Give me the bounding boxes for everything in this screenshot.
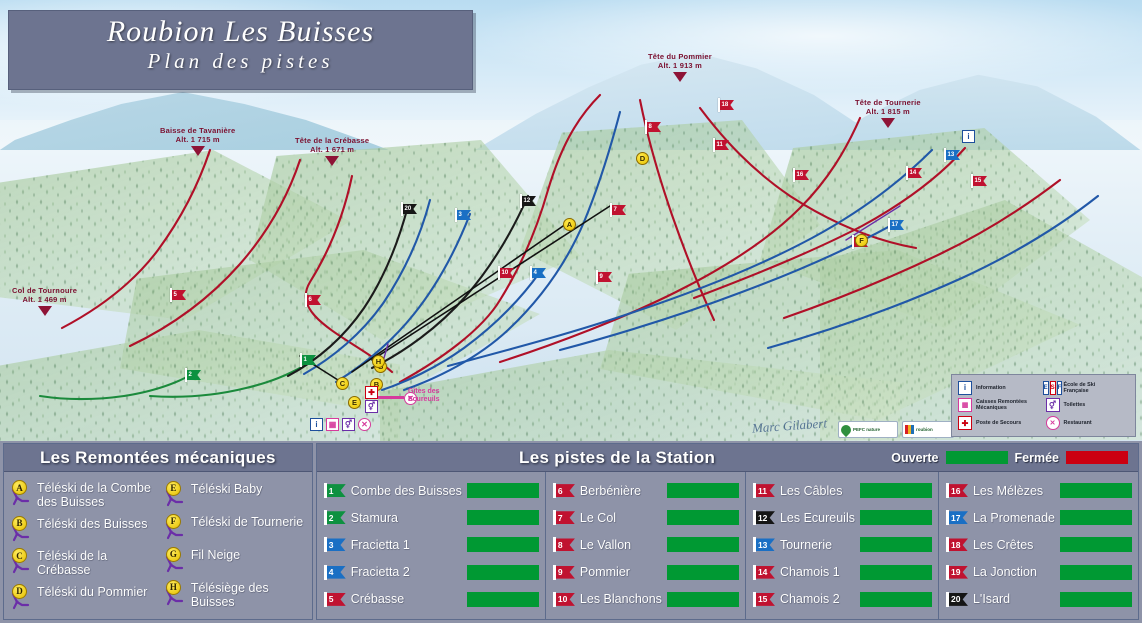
lift-badge-icon: A: [10, 480, 32, 506]
flag-pennant: 11: [715, 140, 729, 150]
flag-pole: [553, 510, 556, 525]
flag-pole: [753, 537, 756, 552]
legend-area: Les Remontées mécaniques ATéléski de la …: [0, 441, 1142, 623]
lift-badge-letter: A: [12, 480, 27, 495]
piste-difficulty-flag: 17: [946, 510, 968, 525]
piste-name: Pommier: [580, 565, 662, 579]
flag-pennant: 7: [612, 205, 626, 215]
flag-pole: [946, 565, 949, 580]
flag-pole: [610, 203, 612, 217]
piste-name: Chamois 1: [780, 565, 855, 579]
flag-pennant: 3: [457, 210, 471, 220]
restaurant-icon[interactable]: ✕: [358, 418, 371, 431]
flag-pennant: 6: [307, 295, 321, 305]
lift-name: Téléski Baby: [191, 481, 263, 496]
piste-name: Les Mélèzes: [973, 484, 1055, 498]
piste-difficulty-flag: 14: [753, 565, 775, 580]
piste-difficulty-flag: 16: [946, 483, 968, 498]
status-open-label: Ouverte: [891, 451, 938, 465]
piste-name: Stamura: [351, 511, 462, 525]
service-information[interactable]: i Information: [958, 380, 1042, 396]
piste-difficulty-flag: 20: [946, 592, 968, 607]
status-open-swatch: [946, 451, 1008, 464]
piste-difficulty-flag: 1: [324, 483, 346, 498]
flag-pennant: 9: [598, 272, 612, 282]
lifts-panel-header: Les Remontées mécaniques: [4, 444, 312, 472]
lift-name: Fil Neige: [191, 547, 240, 562]
status-closed-label: Fermée: [1015, 451, 1059, 465]
piste-name: Combe des Buisses: [351, 484, 462, 498]
map-title-banner: Roubion Les Buisses Plan des pistes: [8, 10, 473, 90]
leaf-icon: [839, 422, 853, 436]
piste-row[interactable]: 2Stamura: [324, 505, 539, 531]
flag-pennant: 18: [720, 100, 734, 110]
map-piste-flag-14[interactable]: 14: [906, 168, 922, 180]
sponsor-logo-pefc: PEFC nature: [838, 421, 898, 438]
restaurant-icon: ✕: [1046, 416, 1060, 430]
flag-pole: [645, 120, 647, 134]
map-piste-flag-18[interactable]: 18: [718, 100, 734, 112]
piste-number: 11: [756, 484, 775, 497]
map-lift-badge-C[interactable]: C: [336, 377, 349, 390]
pistes-column-2: 6Berbénière7Le Col8Le Vallon9Pommier10Le…: [546, 472, 746, 619]
lift-badge-icon: E: [164, 481, 186, 507]
flag-pole: [324, 592, 327, 607]
flag-pennant: 15: [973, 176, 987, 186]
flag-pennant: 1: [302, 355, 316, 365]
information-icon: i: [958, 381, 972, 395]
flag-pole: [596, 270, 598, 284]
pistes-column-1: 1Combe des Buisses2Stamura3Fracietta 14F…: [317, 472, 546, 619]
pistes-column-3: 11Les Câbles12Les Ecureuils13Tournerie14…: [746, 472, 939, 619]
piste-status-bar: [667, 592, 739, 607]
flag-pole: [324, 537, 327, 552]
information-icon[interactable]: i: [310, 418, 323, 431]
piste-difficulty-flag: 18: [946, 537, 968, 552]
flag-pennant: 2: [187, 370, 201, 380]
ticket-office-icon: ▦: [958, 398, 972, 412]
lift-item-f[interactable]: FTéléski de Tournerie: [164, 514, 308, 540]
piste-difficulty-flag: 11: [753, 483, 775, 498]
map-lift-badge-F[interactable]: F: [855, 234, 868, 247]
map-piste-flag-4[interactable]: 4: [530, 268, 546, 280]
service-label: Information: [976, 385, 1006, 391]
piste-name: Les Câbles: [780, 484, 855, 498]
flag-pole: [888, 218, 890, 232]
piste-row[interactable]: 9Pommier: [553, 559, 739, 585]
piste-number: 7: [556, 511, 575, 524]
flag-icon: [905, 425, 914, 434]
page-subtitle: Plan des pistes: [9, 49, 472, 74]
piste-name: Chamois 2: [780, 592, 855, 606]
flag-pole: [753, 510, 756, 525]
toilets-icon: ⚥: [1046, 398, 1060, 412]
status-closed-swatch: [1066, 451, 1128, 464]
summit-label: Tête du Pommier Alt. 1 913 m: [648, 52, 712, 82]
service-toilets[interactable]: ⚥ Toilettes: [1046, 398, 1130, 414]
map-piste-flag-6[interactable]: 6: [305, 295, 321, 307]
piste-difficulty-flag: 5: [324, 592, 346, 607]
flag-pennant: 8: [647, 122, 661, 132]
flag-pole: [852, 235, 854, 249]
piste-status-bar: [1060, 483, 1132, 498]
lift-badge-letter: D: [12, 584, 27, 599]
piste-status-bar: [467, 592, 539, 607]
lifts-panel: Les Remontées mécaniques ATéléski de la …: [3, 443, 313, 620]
map-piste-flag-1[interactable]: 1: [300, 355, 316, 367]
piste-name: Les Blanchons: [580, 592, 662, 606]
summit-pointer-icon: [191, 146, 205, 156]
flag-pole: [753, 565, 756, 580]
piste-row[interactable]: 19La Jonction: [946, 559, 1132, 585]
map-piste-flag-16[interactable]: 16: [793, 170, 809, 182]
piste-status-bar: [860, 565, 932, 580]
map-piste-flag-15[interactable]: 15: [971, 176, 987, 188]
piste-row[interactable]: 18Les Crêtes: [946, 532, 1132, 558]
piste-row[interactable]: 13Tournerie: [753, 532, 932, 558]
flag-pole: [944, 148, 946, 162]
ticket-office-icon[interactable]: ▦: [326, 418, 339, 431]
map-piste-flag-3[interactable]: 3: [455, 210, 471, 222]
flag-pennant: 13: [946, 150, 960, 160]
summit-pointer-icon: [325, 156, 339, 166]
lifts-header-label: Les Remontées mécaniques: [40, 448, 276, 468]
map-lift-badge-H[interactable]: H: [372, 355, 385, 368]
flag-pennant: 10: [500, 268, 514, 278]
piste-row[interactable]: 7Le Col: [553, 505, 739, 531]
summit-label: Tête de la Crébasse Alt. 1 671 m: [295, 136, 369, 166]
piste-status-bar: [860, 510, 932, 525]
summit-label: Col de Tournoure Alt. 1 469 m: [12, 286, 77, 316]
piste-status-bar: [667, 565, 739, 580]
piste-row[interactable]: 3Fracietta 1: [324, 532, 539, 558]
status-legend: Ouverte Fermée: [891, 451, 1128, 465]
flag-pole: [793, 168, 795, 182]
pistes-header-label: Les pistes de la Station: [519, 448, 715, 468]
lift-name: Téléski des Buisses: [37, 516, 147, 531]
flag-pole: [553, 592, 556, 607]
piste-number: 9: [556, 566, 575, 579]
piste-name: Crébasse: [351, 592, 462, 606]
piste-number: 13: [756, 538, 775, 551]
service-ticket-office[interactable]: ▦ Caisses RemontéesMécaniques: [958, 398, 1042, 414]
flag-pole: [324, 483, 327, 498]
map-piste-flag-8[interactable]: 8: [645, 122, 661, 134]
piste-status-bar: [1060, 592, 1132, 607]
flag-pennant: 5: [172, 290, 186, 300]
lift-name: Téléski du Pommier: [37, 584, 147, 599]
map-piste-flag-11[interactable]: 11: [713, 140, 729, 152]
lift-name: Télésiège des Buisses: [191, 580, 308, 610]
sponsor-logo-roubion: roubion: [902, 421, 954, 438]
map-piste-flag-20[interactable]: 20: [401, 204, 417, 216]
lift-badge-letter: B: [12, 516, 27, 531]
pistes-panel-header: Les pistes de la Station Ouverte Fermée: [317, 444, 1138, 472]
lift-item-h[interactable]: HTélésiège des Buisses: [164, 580, 308, 610]
piste-name: Tournerie: [780, 538, 855, 552]
service-label: Toilettes: [1064, 402, 1086, 408]
piste-number: 15: [756, 593, 775, 606]
piste-difficulty-flag: 2: [324, 510, 346, 525]
service-label: Poste de Secours: [976, 420, 1021, 426]
map-lift-badge-D[interactable]: D: [636, 152, 649, 165]
piste-difficulty-flag: 12: [753, 510, 775, 525]
piste-number: 5: [327, 593, 346, 606]
pistes-panel: Les pistes de la Station Ouverte Fermée …: [316, 443, 1139, 620]
first-aid-icon: ✚: [958, 416, 972, 430]
piste-name: Les Crêtes: [973, 538, 1055, 552]
piste-row[interactable]: 20L'Isard: [946, 586, 1132, 612]
lift-badge-letter: E: [166, 481, 181, 496]
piste-map-page: Baisse de Tavanière Alt. 1 715 m Tête de…: [0, 0, 1142, 623]
flag-pole: [553, 483, 556, 498]
piste-status-bar: [1060, 510, 1132, 525]
flag-pole: [946, 592, 949, 607]
piste-number: 4: [327, 566, 346, 579]
piste-row[interactable]: 6Berbénière: [553, 478, 739, 504]
flag-pole: [718, 98, 720, 112]
piste-status-bar: [667, 537, 739, 552]
flag-pole: [498, 266, 500, 280]
lifts-column-left: ATéléski de la Combe des BuissesBTéléski…: [4, 472, 158, 619]
piste-status-bar: [1060, 565, 1132, 580]
piste-name: Le Vallon: [580, 538, 662, 552]
piste-number: 16: [949, 484, 968, 497]
piste-number: 10: [556, 593, 575, 606]
piste-difficulty-flag: 9: [553, 565, 575, 580]
piste-name: Fracietta 2: [351, 565, 462, 579]
piste-status-bar: [667, 510, 739, 525]
flag-pole: [520, 194, 522, 208]
flag-pole: [946, 483, 949, 498]
piste-number: 3: [327, 538, 346, 551]
lift-badge-letter: G: [166, 547, 181, 562]
piste-row[interactable]: 17La Promenade: [946, 505, 1132, 531]
piste-number: 8: [556, 538, 575, 551]
summit-label: Baisse de Tavanière Alt. 1 715 m: [160, 126, 235, 156]
piste-difficulty-flag: 19: [946, 565, 968, 580]
map-lift-badge-E[interactable]: E: [348, 396, 361, 409]
piste-name: Fracietta 1: [351, 538, 462, 552]
first-aid-icon[interactable]: ✚: [365, 386, 378, 399]
lift-item-b[interactable]: BTéléski des Buisses: [10, 516, 154, 542]
piste-name: La Promenade: [973, 511, 1055, 525]
piste-name: La Jonction: [973, 565, 1055, 579]
piste-name: L'Isard: [973, 592, 1055, 606]
piste-number: 12: [756, 511, 775, 524]
lift-name: Téléski de la Combe des Buisses: [37, 480, 154, 510]
lift-item-d[interactable]: DTéléski du Pommier: [10, 584, 154, 610]
service-restaurant[interactable]: ✕ Restaurant: [1046, 415, 1130, 431]
lift-badge-icon: D: [10, 584, 32, 610]
map-piste-flag-13[interactable]: 13: [944, 150, 960, 162]
piste-difficulty-flag: 15: [753, 592, 775, 607]
lift-badge-icon: H: [164, 580, 186, 606]
map-piste-flag-12[interactable]: 12: [520, 196, 536, 208]
pistes-columns: 1Combe des Buisses2Stamura3Fracietta 14F…: [317, 472, 1138, 619]
lift-badge-icon: B: [10, 516, 32, 542]
lift-badge-icon: F: [164, 514, 186, 540]
piste-difficulty-flag: 6: [553, 483, 575, 498]
map-piste-flag-9[interactable]: 9: [596, 272, 612, 284]
flag-pennant: 16: [795, 170, 809, 180]
piste-difficulty-flag: 3: [324, 537, 346, 552]
flag-pole: [305, 293, 307, 307]
flag-pole: [401, 202, 403, 216]
information-icon[interactable]: i: [962, 130, 975, 143]
gites-label: Gîtes desEcureuils: [408, 388, 440, 405]
map-piste-flag-10[interactable]: 10: [498, 268, 514, 280]
piste-row[interactable]: 10Les Blanchons: [553, 586, 739, 612]
piste-number: 1: [327, 484, 346, 497]
lift-name: Téléski de Tournerie: [191, 514, 303, 529]
piste-row[interactable]: 16Les Mélèzes: [946, 478, 1132, 504]
toilets-icon[interactable]: ⚥: [342, 418, 355, 431]
piste-status-bar: [860, 483, 932, 498]
map-piste-flag-5[interactable]: 5: [170, 290, 186, 302]
map-piste-flag-17[interactable]: 17: [888, 220, 904, 232]
toilets-icon[interactable]: ⚥: [365, 400, 378, 413]
piste-row[interactable]: 12Les Ecureuils: [753, 505, 932, 531]
piste-status-bar: [467, 483, 539, 498]
flag-pole: [324, 510, 327, 525]
flag-pole: [300, 353, 302, 367]
piste-difficulty-flag: 4: [324, 565, 346, 580]
piste-number: 6: [556, 484, 575, 497]
piste-row[interactable]: 5Crébasse: [324, 586, 539, 612]
piste-row[interactable]: 8Le Vallon: [553, 532, 739, 558]
flag-pole: [530, 266, 532, 280]
summit-pointer-icon: [881, 118, 895, 128]
lift-badge-letter: C: [12, 548, 27, 563]
flag-pole: [324, 565, 327, 580]
piste-status-bar: [467, 510, 539, 525]
piste-row[interactable]: 11Les Câbles: [753, 478, 932, 504]
piste-number: 2: [327, 511, 346, 524]
flag-pole: [553, 565, 556, 580]
piste-status-bar: [667, 483, 739, 498]
flag-pole: [753, 592, 756, 607]
flag-pennant: 17: [890, 220, 904, 230]
pistes-column-4: 16Les Mélèzes17La Promenade18Les Crêtes1…: [939, 472, 1138, 619]
lift-badge-letter: H: [166, 580, 181, 595]
piste-difficulty-flag: 10: [553, 592, 575, 607]
flag-pole: [713, 138, 715, 152]
piste-number: 17: [949, 511, 968, 524]
lift-badge-letter: F: [166, 514, 181, 529]
lift-item-g[interactable]: GFil Neige: [164, 547, 308, 573]
piste-map-illustration[interactable]: Baisse de Tavanière Alt. 1 715 m Tête de…: [0, 0, 1142, 441]
flag-pole: [455, 208, 457, 222]
lift-name: Téléski de la Crébasse: [37, 548, 154, 578]
flag-pole: [553, 537, 556, 552]
map-piste-flag-7[interactable]: 7: [610, 205, 626, 217]
piste-name: Le Col: [580, 511, 662, 525]
service-first-aid[interactable]: ✚ Poste de Secours: [958, 415, 1042, 431]
piste-status-bar: [1060, 537, 1132, 552]
lift-badge-icon: G: [164, 547, 186, 573]
page-title: Roubion Les Buisses: [9, 11, 472, 49]
flag-pennant: 12: [522, 196, 536, 206]
map-lift-badge-A[interactable]: A: [563, 218, 576, 231]
flag-pole: [946, 537, 949, 552]
flag-pennant: 20: [403, 204, 417, 214]
piste-number: 14: [756, 566, 775, 579]
lift-item-a[interactable]: ATéléski de la Combe des Buisses: [10, 480, 154, 510]
piste-number: 18: [949, 538, 968, 551]
piste-difficulty-flag: 7: [553, 510, 575, 525]
service-label: Restaurant: [1064, 420, 1092, 426]
flag-pennant: 14: [908, 168, 922, 178]
gites-arrow: [378, 396, 404, 399]
map-piste-flag-2[interactable]: 2: [185, 370, 201, 382]
piste-row[interactable]: 4Fracietta 2: [324, 559, 539, 585]
service-esf[interactable]: ESF École de SkiFrançaise: [1046, 380, 1130, 396]
piste-status-bar: [467, 565, 539, 580]
piste-status-bar: [860, 537, 932, 552]
flag-pennant: 4: [532, 268, 546, 278]
piste-number: 19: [949, 566, 968, 579]
summit-pointer-icon: [38, 306, 52, 316]
piste-difficulty-flag: 13: [753, 537, 775, 552]
summit-label: Tête de Tournerie Alt. 1 815 m: [855, 98, 921, 128]
piste-status-bar: [467, 537, 539, 552]
piste-name: Les Ecureuils: [780, 511, 855, 525]
flag-pole: [185, 368, 187, 382]
flag-pole: [170, 288, 172, 302]
piste-row[interactable]: 15Chamois 2: [753, 586, 932, 612]
lift-item-c[interactable]: CTéléski de la Crébasse: [10, 548, 154, 578]
flag-pole: [906, 166, 908, 180]
lift-item-e[interactable]: ETéléski Baby: [164, 481, 308, 507]
services-legend-box: i Information ESF École de SkiFrançaise …: [951, 374, 1136, 437]
piste-name: Berbénière: [580, 484, 662, 498]
service-label: Caisses RemontéesMécaniques: [976, 399, 1027, 411]
service-label: École de SkiFrançaise: [1064, 382, 1096, 394]
flag-pole: [753, 483, 756, 498]
piste-row[interactable]: 1Combe des Buisses: [324, 478, 539, 504]
flag-pole: [946, 510, 949, 525]
lift-badge-icon: C: [10, 548, 32, 574]
flag-pole: [971, 174, 973, 188]
piste-row[interactable]: 14Chamois 1: [753, 559, 932, 585]
piste-difficulty-flag: 8: [553, 537, 575, 552]
lifts-column-right: ETéléski BabyFTéléski de TournerieGFil N…: [158, 472, 312, 619]
esf-icon: ESF: [1046, 381, 1060, 395]
piste-number: 20: [949, 593, 968, 606]
piste-status-bar: [860, 592, 932, 607]
summit-pointer-icon: [673, 72, 687, 82]
